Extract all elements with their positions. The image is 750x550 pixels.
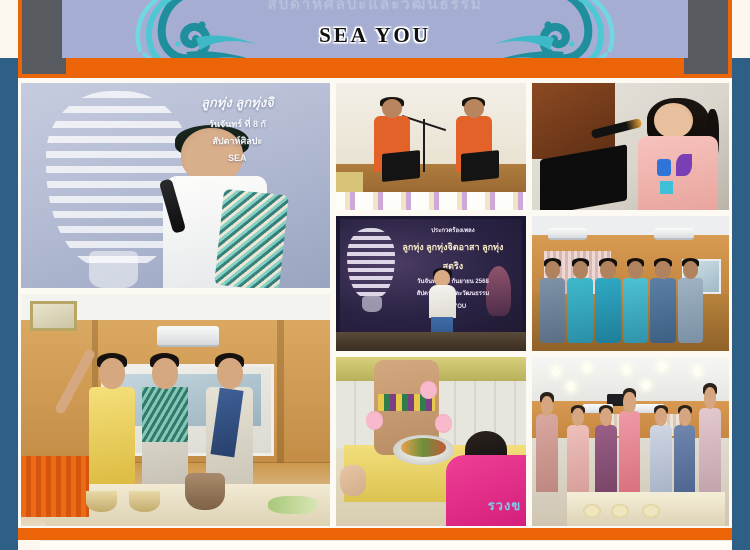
serving-dish	[642, 504, 660, 518]
flower-decorations	[336, 192, 526, 210]
vegetable-plate	[268, 496, 317, 515]
performer-figure	[623, 278, 649, 343]
photo-trio-traditional-dress-food-demo[interactable]	[21, 294, 330, 526]
performer-figure	[567, 278, 593, 343]
mortar-and-pestle	[185, 473, 225, 510]
guest-hand	[340, 465, 367, 495]
attendee-figure	[699, 408, 721, 493]
photo-overlay-text: ลูกทุ่ง ลูกทุ่งจิ วันจันทร์ ที่ 8 กั สัป…	[151, 91, 324, 167]
photo-buffet-hall-crowd[interactable]	[532, 357, 729, 526]
photo-costume-group-performers[interactable]	[532, 216, 729, 351]
photo-girl-singing-pink-shirt[interactable]	[532, 83, 729, 210]
attendee-figure	[674, 425, 696, 493]
attendee-figure	[595, 425, 617, 493]
side-rail-left	[0, 58, 18, 550]
photo-duo-performers-orange-shirts[interactable]	[336, 83, 526, 210]
performer-figure	[650, 278, 676, 343]
header-band: สัปดาห์ศิลปะและวัฒนธรรม SEA YOU	[62, 0, 688, 58]
framed-picture	[30, 301, 76, 331]
attendee-figure	[536, 414, 558, 492]
attendee-figure	[619, 411, 641, 492]
singer-figure	[634, 98, 721, 210]
page-title: SEA YOU	[62, 23, 688, 48]
performer-figure	[142, 387, 188, 489]
retro-microphone-graphic	[347, 228, 394, 298]
photo-student-singing-with-mic[interactable]: ลูกทุ่ง ลูกทุ่งจิ วันจันทร์ ที่ 8 กั สัป…	[21, 83, 330, 288]
performer-figure	[595, 278, 621, 343]
orange-table-drape	[21, 456, 89, 516]
serving-dish	[611, 504, 629, 518]
microphone-graphic-base	[89, 251, 138, 288]
pink-shirt-figure: รวงข	[446, 455, 526, 526]
header-clipped-subtitle: สัปดาห์ศิลปะและวัฒนธรรม	[62, 0, 688, 16]
dancer-figure	[89, 387, 135, 489]
air-conditioner-unit	[654, 228, 693, 240]
photo-food-platter-closeup[interactable]: รวงข	[336, 357, 526, 526]
music-stand	[461, 150, 499, 182]
shirt-text: รวงข	[488, 495, 522, 516]
side-rail-right	[732, 58, 750, 550]
photo-stage-singer-with-poster-screen[interactable]: ประกวดร้องเพลง ลูกทุ่ง ลูกทุ่งจิตอาสา ลู…	[336, 216, 526, 351]
slate-corner-block-right	[684, 0, 728, 74]
air-conditioner-unit	[157, 326, 219, 347]
flower-armband	[420, 381, 437, 400]
food-bowl	[86, 491, 117, 512]
poster-canvas: สัปดาห์ศิลปะและวัฒนธรรม SEA YOU	[0, 0, 750, 550]
flower-armband	[435, 414, 452, 433]
speaker-cabinet	[336, 172, 363, 192]
slate-corner-block-left	[22, 0, 66, 74]
photo-collage: ลูกทุ่ง ลูกทุ่งจิ วันจันทร์ ที่ 8 กั สัป…	[18, 78, 732, 528]
air-conditioner-unit	[548, 228, 587, 240]
bottom-panel	[40, 540, 732, 550]
performer-figure	[678, 278, 704, 343]
music-stand	[382, 150, 420, 182]
attendee-figure	[567, 425, 589, 493]
serving-dish	[583, 504, 601, 518]
attendee-figure	[650, 425, 672, 493]
food-bowl	[129, 491, 160, 512]
performer-figure	[540, 278, 566, 343]
